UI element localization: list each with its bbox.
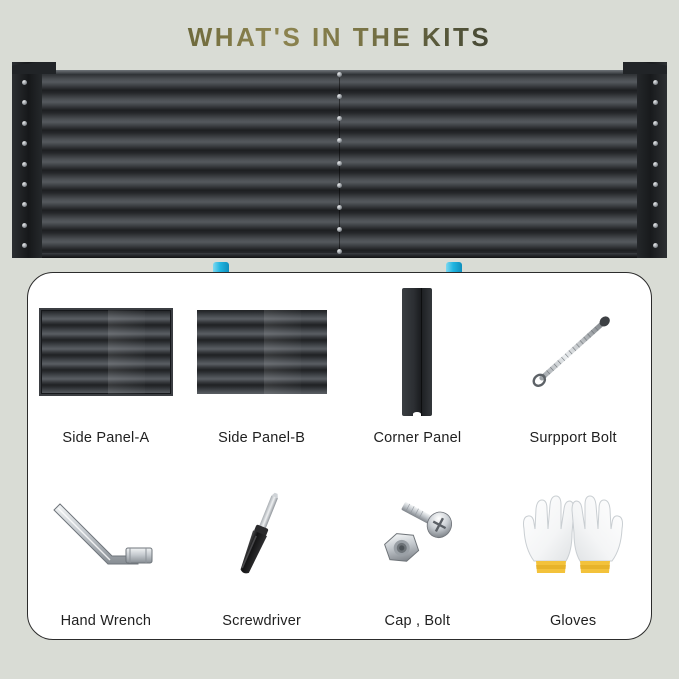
corner-notch bbox=[413, 412, 421, 416]
kit-item-label: Side Panel-B bbox=[218, 430, 305, 446]
kit-item-cap-bolt[interactable]: Cap , Bolt bbox=[340, 456, 496, 639]
kit-item-hand-wrench[interactable]: Hand Wrench bbox=[28, 456, 184, 639]
rivet-icon bbox=[653, 162, 658, 167]
rivet-icon bbox=[653, 202, 658, 207]
hero-product-image bbox=[12, 62, 667, 258]
rivet-icon bbox=[653, 121, 658, 126]
rivet-icon bbox=[337, 94, 342, 99]
corner-fold-line bbox=[421, 288, 422, 416]
kit-contents-card: Side Panel-A Side Panel-B Corner Panel bbox=[27, 272, 652, 640]
kit-item-label: Screwdriver bbox=[222, 613, 301, 629]
rivet-icon bbox=[337, 116, 342, 121]
kit-item-corner-panel[interactable]: Corner Panel bbox=[340, 273, 496, 456]
kit-item-label: Surpport Bolt bbox=[530, 430, 617, 446]
cap-bolt-art bbox=[340, 456, 496, 613]
work-gloves-icon bbox=[514, 489, 632, 581]
rivet-icon bbox=[22, 243, 27, 248]
side-panel-a-art bbox=[28, 273, 184, 430]
rivet-icon bbox=[653, 182, 658, 187]
rivet-icon bbox=[22, 202, 27, 207]
rivet-icon bbox=[337, 227, 342, 232]
corrugated-panel-framed-icon bbox=[39, 308, 173, 396]
kit-item-screwdriver[interactable]: Screwdriver bbox=[184, 456, 340, 639]
page-title: WHAT'S IN THE KITS bbox=[0, 22, 679, 53]
rivet-icon bbox=[22, 141, 27, 146]
kit-item-label: Gloves bbox=[550, 613, 596, 629]
rivet-column-center bbox=[337, 72, 343, 254]
kit-item-gloves[interactable]: Gloves bbox=[495, 456, 651, 639]
kit-item-label: Cap , Bolt bbox=[385, 613, 451, 629]
corner-post-icon bbox=[402, 288, 432, 416]
rivet-icon bbox=[653, 100, 658, 105]
hand-wrench-art bbox=[28, 456, 184, 613]
rivet-icon bbox=[653, 141, 658, 146]
kit-item-side-panel-b[interactable]: Side Panel-B bbox=[184, 273, 340, 456]
panel-sheen bbox=[264, 310, 300, 394]
rivet-icon bbox=[22, 100, 27, 105]
rivet-icon bbox=[22, 182, 27, 187]
panel-sheen bbox=[108, 310, 144, 394]
rivet-icon bbox=[337, 183, 342, 188]
corner-panel-art bbox=[340, 273, 496, 430]
kit-item-label: Hand Wrench bbox=[61, 613, 152, 629]
rivet-column-right bbox=[652, 80, 658, 248]
rivet-icon bbox=[653, 80, 658, 85]
gloves-art bbox=[495, 456, 651, 613]
rivet-column-left bbox=[21, 80, 27, 248]
support-bolt-art bbox=[495, 273, 651, 430]
screwdriver-icon bbox=[214, 491, 310, 579]
rivet-icon bbox=[337, 205, 342, 210]
bolt-and-nut-icon bbox=[369, 493, 465, 577]
rivet-icon bbox=[22, 121, 27, 126]
rivet-icon bbox=[22, 223, 27, 228]
rivet-icon bbox=[337, 161, 342, 166]
rivet-icon bbox=[653, 223, 658, 228]
rivet-icon bbox=[653, 243, 658, 248]
kit-items-grid: Side Panel-A Side Panel-B Corner Panel bbox=[28, 273, 651, 639]
kit-item-label: Corner Panel bbox=[373, 430, 461, 446]
rivet-icon bbox=[337, 249, 342, 254]
planter-corner-post-left bbox=[12, 62, 42, 258]
allen-wrench-icon bbox=[52, 494, 160, 576]
kit-item-side-panel-a[interactable]: Side Panel-A bbox=[28, 273, 184, 456]
side-panel-b-art bbox=[184, 273, 340, 430]
threaded-rod-icon bbox=[518, 304, 628, 400]
rivet-icon bbox=[337, 72, 342, 77]
kit-item-label: Side Panel-A bbox=[62, 430, 149, 446]
rivet-icon bbox=[337, 138, 342, 143]
rivet-icon bbox=[22, 162, 27, 167]
screwdriver-art bbox=[184, 456, 340, 613]
kit-item-support-bolt[interactable]: Surpport Bolt bbox=[495, 273, 651, 456]
corrugated-panel-plain-icon bbox=[197, 310, 327, 394]
rivet-icon bbox=[22, 80, 27, 85]
